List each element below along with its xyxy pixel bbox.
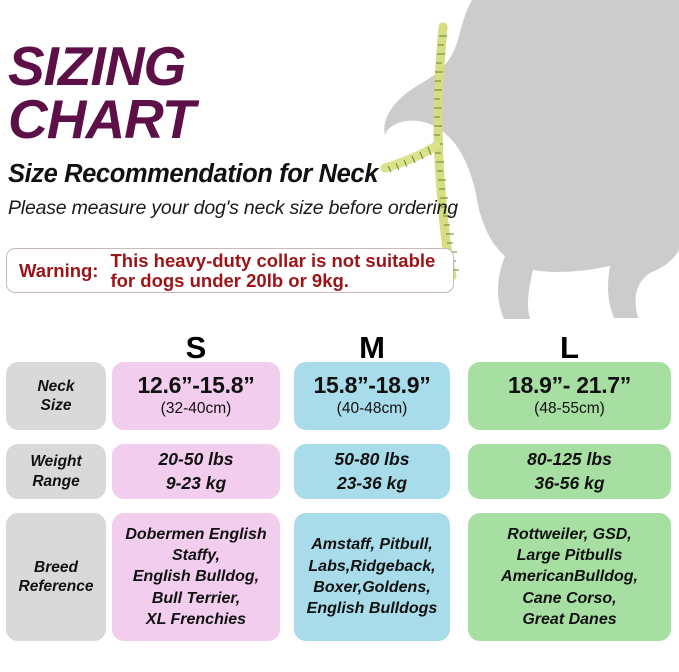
column-header-l: L [468, 330, 671, 366]
breed-medium-list: Amstaff, Pitbull, Labs,Ridgeback, Boxer,… [301, 534, 444, 619]
neck-size-medium-inches: 15.8”-18.9” [314, 373, 431, 399]
breed-large-list: Rottweiler, GSD, Large Pitbulls American… [495, 524, 644, 630]
table-column-headers: S M L [0, 330, 679, 362]
neck-size-large-cm: (48-55cm) [534, 400, 605, 419]
cell-neck-size-large: 18.9”- 21.7” (48-55cm) [468, 362, 671, 430]
cell-neck-size-medium: 15.8”-18.9” (40-48cm) [294, 362, 450, 430]
row-label-weight-range: Weight Range [6, 444, 106, 499]
sizing-table: S M L Neck Size 12.6”-15.8” (32-40cm) 15… [0, 330, 679, 655]
breed-small-list: Dobermen English Staffy, English Bulldog… [119, 524, 272, 630]
subtitle: Size Recommendation for Neck [0, 146, 480, 189]
table-row-neck-size: Neck Size 12.6”-15.8” (32-40cm) 15.8”-18… [0, 362, 679, 430]
weight-medium-value: 50-80 lbs 23-36 kg [335, 448, 410, 495]
table-row-breed-reference: Breed Reference Dobermen English Staffy,… [0, 513, 679, 641]
warning-box: Warning: This heavy-duty collar is not s… [6, 248, 454, 293]
cell-weight-medium: 50-80 lbs 23-36 kg [294, 444, 450, 499]
header-block: SIZING CHART Size Recommendation for Nec… [0, 0, 480, 220]
column-header-m: M [294, 330, 450, 366]
neck-size-large-inches: 18.9”- 21.7” [508, 373, 631, 399]
cell-weight-small: 20-50 lbs 9-23 kg [112, 444, 280, 499]
cell-breed-medium: Amstaff, Pitbull, Labs,Ridgeback, Boxer,… [294, 513, 450, 641]
warning-message: This heavy-duty collar is not suitable f… [98, 251, 435, 291]
weight-small-value: 20-50 lbs 9-23 kg [159, 448, 234, 495]
table-row-weight-range: Weight Range 20-50 lbs 9-23 kg 50-80 lbs… [0, 444, 679, 499]
cell-neck-size-small: 12.6”-15.8” (32-40cm) [112, 362, 280, 430]
instruction-text: Please measure your dog's neck size befo… [0, 189, 480, 220]
page-title: SIZING CHART [0, 0, 480, 146]
warning-label: Warning: [7, 260, 98, 282]
weight-large-value: 80-125 lbs 36-56 kg [527, 448, 612, 495]
row-label-breed-reference: Breed Reference [6, 513, 106, 641]
cell-breed-large: Rottweiler, GSD, Large Pitbulls American… [468, 513, 671, 641]
neck-size-small-cm: (32-40cm) [161, 400, 232, 419]
cell-weight-large: 80-125 lbs 36-56 kg [468, 444, 671, 499]
neck-size-medium-cm: (40-48cm) [337, 400, 408, 419]
cell-breed-small: Dobermen English Staffy, English Bulldog… [112, 513, 280, 641]
column-header-s: S [112, 330, 280, 366]
neck-size-small-inches: 12.6”-15.8” [138, 373, 255, 399]
row-label-neck-size: Neck Size [6, 362, 106, 430]
